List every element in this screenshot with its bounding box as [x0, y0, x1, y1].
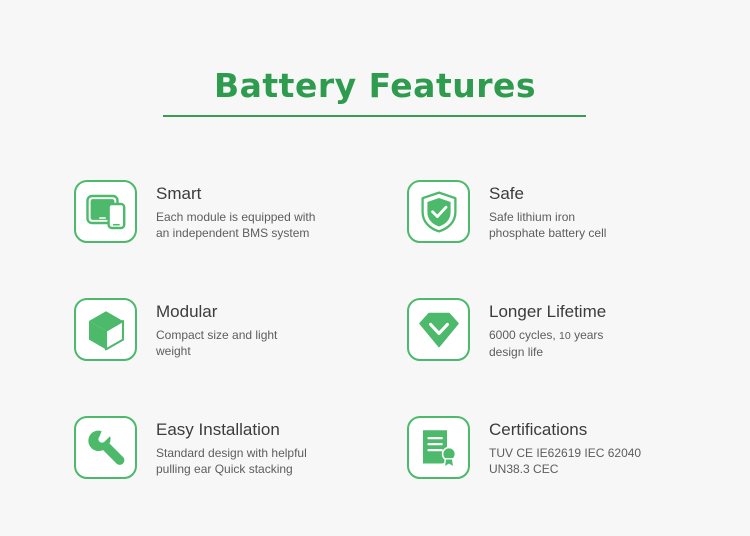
feature-description: Each module is equipped with an independ…: [156, 209, 315, 241]
header: Battery Features: [0, 66, 750, 106]
feature-item-modular[interactable]: Modular Compact size and light weight: [0, 298, 355, 416]
title-underline: [163, 115, 586, 117]
features-grid: Smart Each module is equipped with an in…: [0, 180, 750, 534]
feature-title: Certifications: [489, 418, 641, 441]
desc-line-2: UN38.3 CEC: [489, 462, 558, 476]
desc-line-2: an independent BMS system: [156, 226, 309, 240]
desc-line-1: Safe lithium iron: [489, 210, 575, 224]
feature-row: Modular Compact size and light weight Lo…: [0, 298, 750, 416]
icon-container: [407, 180, 470, 243]
feature-text: Longer Lifetime 6000 cycles, 10 years de…: [470, 298, 606, 360]
feature-text: Safe Safe lithium iron phosphate battery…: [470, 180, 606, 241]
desc-line-2: design life: [489, 345, 543, 359]
feature-text: Easy Installation Standard design with h…: [137, 416, 307, 477]
feature-row: Smart Each module is equipped with an in…: [0, 180, 750, 298]
feature-description: Standard design with helpful pulling ear…: [156, 445, 307, 477]
feature-item-longer-lifetime[interactable]: Longer Lifetime 6000 cycles, 10 years de…: [355, 298, 750, 416]
diamond-chevron-icon: [418, 311, 460, 349]
desc-line-2: phosphate battery cell: [489, 226, 606, 240]
feature-title: Modular: [156, 300, 277, 323]
feature-description: Compact size and light weight: [156, 327, 277, 359]
desc-part-1: 6000 cycles,: [489, 328, 556, 342]
wrench-icon: [86, 428, 126, 468]
battery-features-page: Battery Features Smart: [0, 0, 750, 536]
page-title: Battery Features: [0, 66, 750, 106]
feature-title: Longer Lifetime: [489, 300, 606, 323]
feature-item-smart[interactable]: Smart Each module is equipped with an in…: [0, 180, 355, 298]
icon-container: [74, 416, 137, 479]
desc-line-2: pulling ear Quick stacking: [156, 462, 293, 476]
feature-item-safe[interactable]: Safe Safe lithium iron phosphate battery…: [355, 180, 750, 298]
feature-text: Certifications TUV CE IE62619 IEC 62040 …: [470, 416, 641, 477]
feature-description: Safe lithium iron phosphate battery cell: [489, 209, 606, 241]
desc-line-1: TUV CE IE62619 IEC 62040: [489, 446, 641, 460]
certificate-icon: [419, 427, 459, 469]
icon-container: [407, 298, 470, 361]
feature-text: Modular Compact size and light weight: [137, 298, 277, 359]
icon-container: [74, 298, 137, 361]
feature-title: Safe: [489, 182, 606, 205]
desc-line-2: weight: [156, 344, 191, 358]
desc-part-2: years: [574, 328, 603, 342]
feature-item-certifications[interactable]: Certifications TUV CE IE62619 IEC 62040 …: [355, 416, 750, 534]
desc-number: 10: [559, 330, 571, 342]
feature-description: TUV CE IE62619 IEC 62040 UN38.3 CEC: [489, 445, 641, 477]
feature-description: 6000 cycles, 10 years design life: [489, 327, 606, 360]
tablet-phone-icon: [86, 193, 126, 231]
feature-title: Smart: [156, 182, 315, 205]
feature-text: Smart Each module is equipped with an in…: [137, 180, 315, 241]
cube-icon: [86, 309, 126, 351]
shield-check-icon: [420, 191, 458, 233]
icon-container: [407, 416, 470, 479]
feature-row: Easy Installation Standard design with h…: [0, 416, 750, 534]
feature-item-easy-installation[interactable]: Easy Installation Standard design with h…: [0, 416, 355, 534]
desc-line-1: Each module is equipped with: [156, 210, 315, 224]
feature-title: Easy Installation: [156, 418, 307, 441]
icon-container: [74, 180, 137, 243]
desc-line-1: Compact size and light: [156, 328, 277, 342]
desc-line-1: Standard design with helpful: [156, 446, 307, 460]
